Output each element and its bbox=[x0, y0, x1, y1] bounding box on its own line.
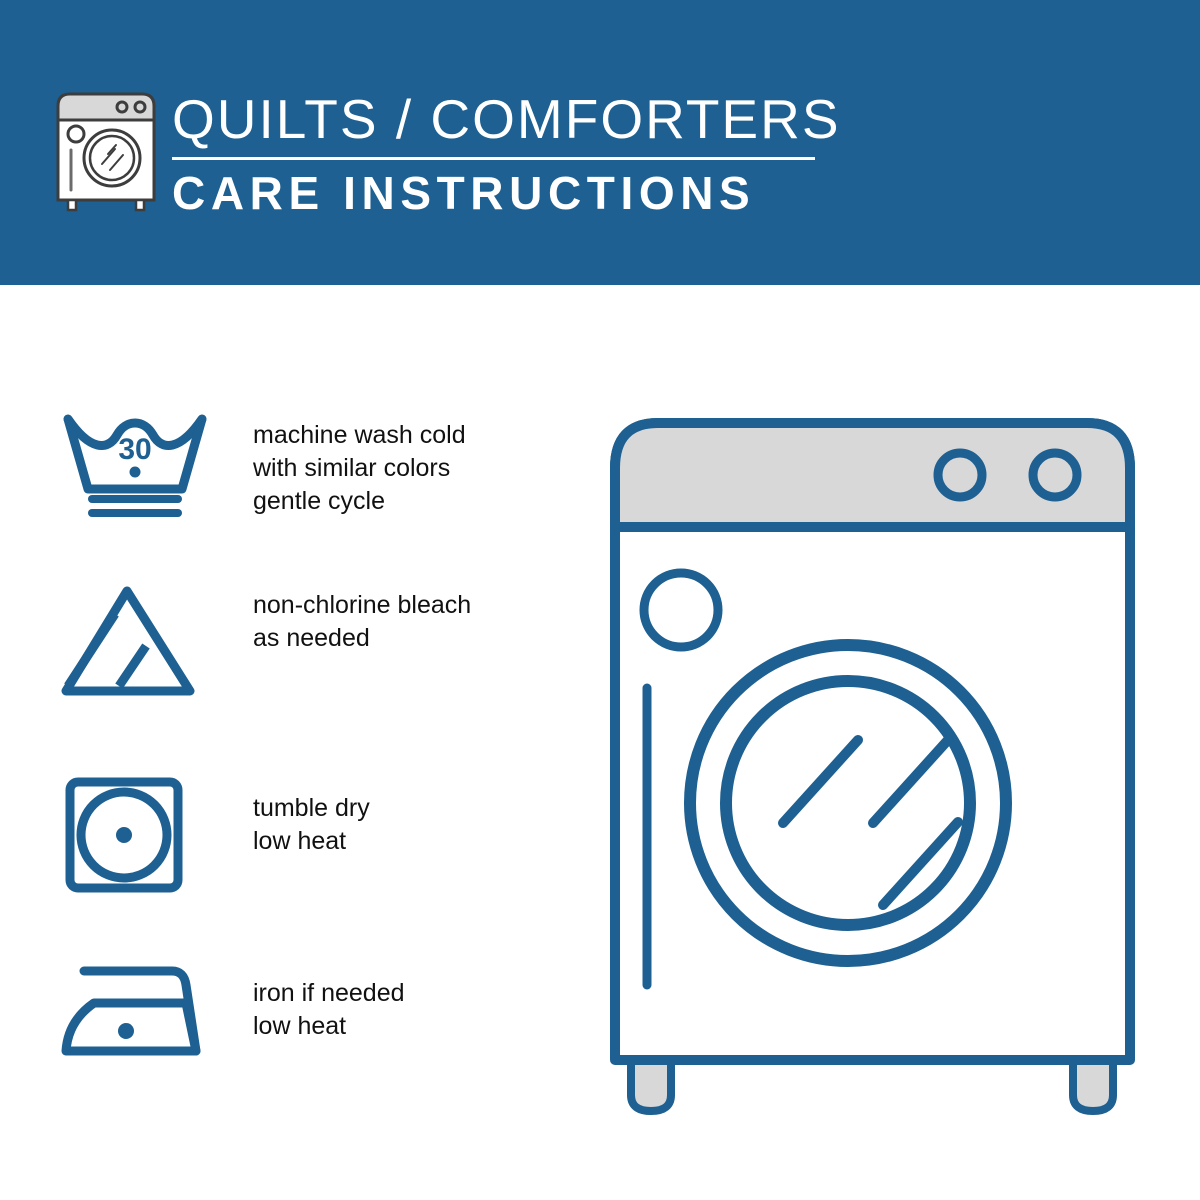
care-instruction-text: iron if needed low heat bbox=[253, 977, 533, 1043]
page-title: QUILTS / COMFORTERS bbox=[172, 88, 822, 150]
care-instruction-row: non-chlorine bleach as needed bbox=[0, 577, 540, 727]
care-instruction-row: iron if needed low heat bbox=[0, 947, 540, 1097]
header-band: QUILTS / COMFORTERS CARE INSTRUCTIONS bbox=[0, 0, 1200, 285]
page-subtitle: CARE INSTRUCTIONS bbox=[172, 166, 822, 220]
front-load-washing-machine-illustration bbox=[595, 405, 1165, 1125]
title-divider bbox=[172, 157, 815, 160]
care-instruction-row: tumble dry low heat bbox=[0, 770, 540, 920]
care-text-line: iron if needed bbox=[253, 977, 533, 1010]
washing-machine-icon bbox=[52, 80, 160, 212]
care-text-line: machine wash cold bbox=[253, 419, 533, 452]
care-text-line: non-chlorine bleach bbox=[253, 589, 533, 622]
iron-low-heat-icon bbox=[60, 955, 210, 1085]
care-instruction-text: non-chlorine bleach as needed bbox=[253, 589, 533, 655]
care-text-line: gentle cycle bbox=[253, 485, 533, 518]
care-text-line: with similar colors bbox=[253, 452, 533, 485]
header-title-block: QUILTS / COMFORTERS CARE INSTRUCTIONS bbox=[172, 88, 822, 220]
care-instruction-text: machine wash cold with similar colors ge… bbox=[253, 419, 533, 518]
care-text-line: tumble dry bbox=[253, 792, 533, 825]
care-text-line: low heat bbox=[253, 1010, 533, 1043]
control-panel bbox=[615, 423, 1130, 527]
care-text-line: as needed bbox=[253, 622, 533, 655]
care-instruction-text: tumble dry low heat bbox=[253, 792, 533, 858]
tumble-dry-low-heat-icon bbox=[60, 770, 210, 900]
wash-basin-30-gentle-icon: 30 bbox=[60, 395, 210, 525]
non-chlorine-bleach-triangle-icon bbox=[60, 581, 210, 711]
wash-temperature-label: 30 bbox=[118, 433, 151, 466]
care-text-line: low heat bbox=[253, 825, 533, 858]
care-instruction-row: 30 machine wash cold with similar colors… bbox=[0, 395, 540, 545]
